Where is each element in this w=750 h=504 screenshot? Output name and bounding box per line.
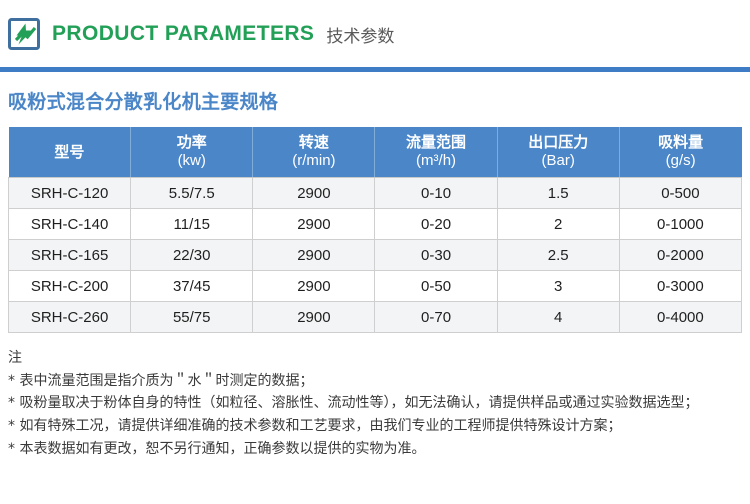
table-row: SRH-C-140 11/15 2900 0-20 2 0-1000 [9,209,742,240]
column-header-model: 型号 [9,127,131,178]
notes-section: 注 * 表中流量范围是指介质为＂水＂时测定的数据； * 吸粉量取决于粉体自身的特… [8,347,748,460]
note-item: * 如有特殊工况，请提供详细准确的技术参数和工艺要求，由我们专业的工程师提供特殊… [8,415,748,438]
column-header-speed: 转速 (r/min) [253,127,375,178]
cell-power: 11/15 [131,209,253,240]
column-header-pressure: 出口压力 (Bar) [497,127,619,178]
cell-power: 22/30 [131,240,253,271]
cell-suction: 0-500 [619,178,741,209]
table-row: SRH-C-260 55/75 2900 0-70 4 0-4000 [9,302,742,333]
cell-model: SRH-C-260 [9,302,131,333]
cell-speed: 2900 [253,209,375,240]
column-header-pressure-unit: (Bar) [500,152,617,171]
spec-table: 型号 功率 (kw) 转速 (r/min) 流量范围 (m³/h) 出口压力 (… [8,127,742,333]
header-divider-rule [0,67,750,72]
page-header: PRODUCT PARAMETERS 技术参数 [0,0,750,68]
cell-speed: 2900 [253,302,375,333]
cell-speed: 2900 [253,240,375,271]
header-title-chinese: 技术参数 [326,22,394,47]
column-header-pressure-label: 出口压力 [528,133,588,151]
cell-suction: 0-3000 [619,271,741,302]
column-header-power-unit: (kw) [133,152,250,171]
table-row: SRH-C-120 5.5/7.5 2900 0-10 1.5 0-500 [9,178,742,209]
cell-suction: 0-1000 [619,209,741,240]
cell-flow: 0-20 [375,209,497,240]
cell-model: SRH-C-140 [9,209,131,240]
cell-flow: 0-10 [375,178,497,209]
cell-power: 5.5/7.5 [131,178,253,209]
cell-flow: 0-70 [375,302,497,333]
cell-flow: 0-50 [375,271,497,302]
cell-suction: 0-2000 [619,240,741,271]
cell-model: SRH-C-165 [9,240,131,271]
column-header-power-label: 功率 [177,133,207,151]
spec-table-head: 型号 功率 (kw) 转速 (r/min) 流量范围 (m³/h) 出口压力 (… [9,127,742,178]
table-header-row: 型号 功率 (kw) 转速 (r/min) 流量范围 (m³/h) 出口压力 (… [9,127,742,178]
cell-model: SRH-C-120 [9,178,131,209]
cell-model: SRH-C-200 [9,271,131,302]
column-header-power: 功率 (kw) [131,127,253,178]
cell-pressure: 1.5 [497,178,619,209]
cell-speed: 2900 [253,178,375,209]
column-header-flow: 流量范围 (m³/h) [375,127,497,178]
table-row: SRH-C-200 37/45 2900 0-50 3 0-3000 [9,271,742,302]
cell-pressure: 4 [497,302,619,333]
cell-power: 37/45 [131,271,253,302]
column-header-flow-label: 流量范围 [406,133,466,151]
notes-title: 注 [8,347,748,370]
cell-flow: 0-30 [375,240,497,271]
column-header-flow-unit: (m³/h) [377,152,494,171]
note-item: * 表中流量范围是指介质为＂水＂时测定的数据； [8,370,748,393]
table-row: SRH-C-165 22/30 2900 0-30 2.5 0-2000 [9,240,742,271]
column-header-suction: 吸料量 (g/s) [619,127,741,178]
column-header-speed-unit: (r/min) [255,152,372,171]
header-title-english: PRODUCT PARAMETERS [52,22,314,46]
column-header-suction-label: 吸料量 [658,133,703,151]
note-item: * 吸粉量取决于粉体自身的特性（如粒径、溶胀性、流动性等），如无法确认，请提供样… [8,392,748,415]
cell-pressure: 3 [497,271,619,302]
spec-table-container: 型号 功率 (kw) 转速 (r/min) 流量范围 (m³/h) 出口压力 (… [8,127,742,333]
section-heading: 吸粉式混合分散乳化机主要规格 [8,87,750,114]
note-item: * 本表数据如有更改，恕不另行通知，正确参数以提供的实物为准。 [8,438,748,461]
cell-power: 55/75 [131,302,253,333]
column-header-model-label: 型号 [54,143,84,161]
cell-speed: 2900 [253,271,375,302]
cell-suction: 0-4000 [619,302,741,333]
cell-pressure: 2.5 [497,240,619,271]
green-lightning-square-logo-icon [8,18,40,50]
column-header-suction-unit: (g/s) [622,152,740,171]
cell-pressure: 2 [497,209,619,240]
column-header-speed-label: 转速 [299,133,329,151]
spec-table-body: SRH-C-120 5.5/7.5 2900 0-10 1.5 0-500 SR… [9,178,742,333]
